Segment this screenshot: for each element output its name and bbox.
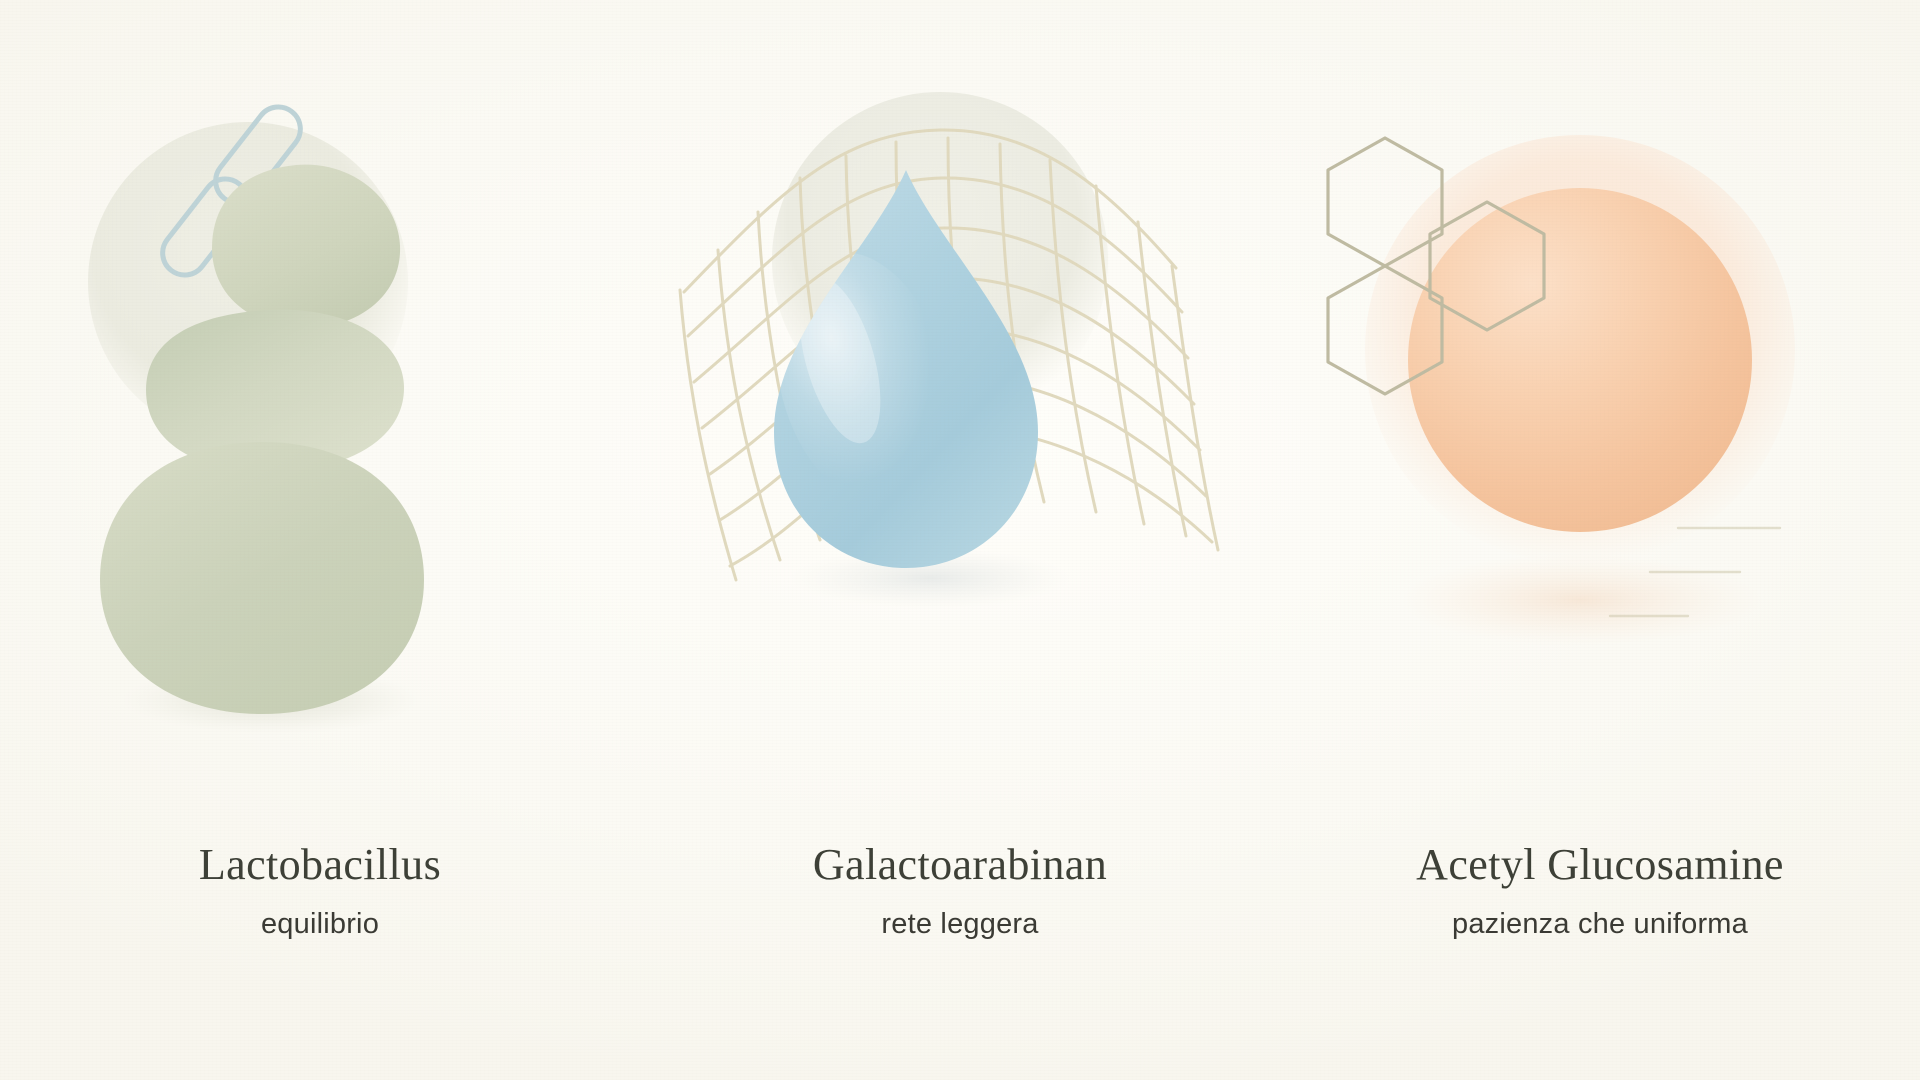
ingredient-title: Galactoarabinan — [640, 840, 1280, 891]
ingredient-panel-lactobacillus: Lactobacillus equilibrio — [0, 0, 640, 1080]
acetyl-glucosamine-illustration — [1280, 60, 1920, 790]
pebble-small-top — [212, 165, 400, 328]
pebble-large-bottom — [100, 442, 424, 714]
caption-block: Lactobacillus equilibrio — [0, 840, 640, 941]
ingredient-subtitle: pazienza che uniforma — [1280, 907, 1920, 942]
ingredient-panel-acetyl-glucosamine: Acetyl Glucosamine pazienza che uniforma — [1280, 0, 1920, 1080]
sphere — [1408, 188, 1752, 532]
caption-block: Acetyl Glucosamine pazienza che uniforma — [1280, 840, 1920, 941]
galactoarabinan-illustration — [640, 60, 1280, 790]
ingredient-subtitle: equilibrio — [0, 907, 640, 942]
ingredient-subtitle: rete leggera — [640, 907, 1280, 942]
ingredient-panel-galactoarabinan: Galactoarabinan rete leggera — [640, 0, 1280, 1080]
lactobacillus-illustration — [0, 60, 640, 790]
illustration-canvas: Lactobacillus equilibrio — [0, 0, 1920, 1080]
ingredient-title: Lactobacillus — [0, 840, 640, 891]
caption-block: Galactoarabinan rete leggera — [640, 840, 1280, 941]
ground-shadow — [1400, 554, 1760, 646]
ingredient-title: Acetyl Glucosamine — [1280, 840, 1920, 891]
